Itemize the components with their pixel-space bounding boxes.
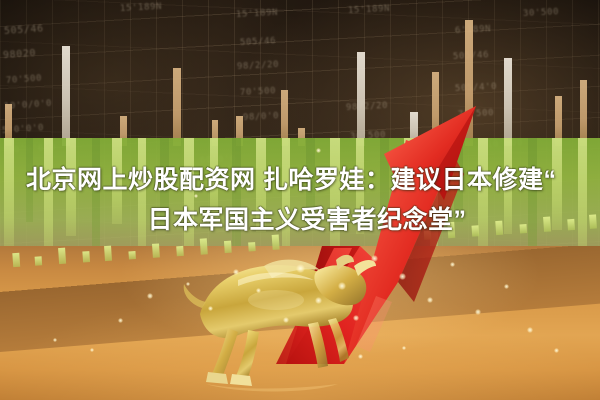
chart-ghost-number: 30'500 (523, 7, 560, 19)
chart-ghost-number: 6'189N (455, 24, 492, 36)
green-band-bar (4, 138, 14, 246)
chart-board-bar (173, 68, 181, 146)
chart-ghost-number: 98020 (3, 48, 37, 61)
green-band-bar (112, 138, 122, 224)
horizon-tick (58, 248, 66, 264)
green-band-bar (210, 138, 218, 218)
horizon-tick (152, 243, 160, 257)
chart-board-bar (62, 46, 70, 146)
horizon-tick (495, 221, 503, 235)
horizon-tick (35, 256, 43, 265)
charging-bull-statue (168, 242, 378, 392)
chart-board-bar (580, 80, 587, 146)
green-band-bar (66, 138, 76, 236)
green-band-bar (160, 138, 169, 230)
horizon-tick (12, 253, 20, 267)
horizon-tick (589, 214, 597, 228)
chart-board-bar (504, 58, 512, 146)
green-band-bar (26, 138, 33, 222)
horizon-tick (567, 219, 575, 230)
horizon-tick (128, 251, 136, 259)
banner-image: 15'189N505/4615'189N505/469802098/2/2070… (0, 0, 600, 400)
green-band-bar (578, 138, 587, 256)
horizon-tick (520, 224, 528, 233)
horizon-tick (543, 216, 551, 231)
green-band-bar (92, 138, 100, 250)
horizon-tick (104, 246, 112, 261)
horizon-tick (82, 251, 90, 262)
chart-ghost-number: 505/46 (240, 36, 277, 48)
